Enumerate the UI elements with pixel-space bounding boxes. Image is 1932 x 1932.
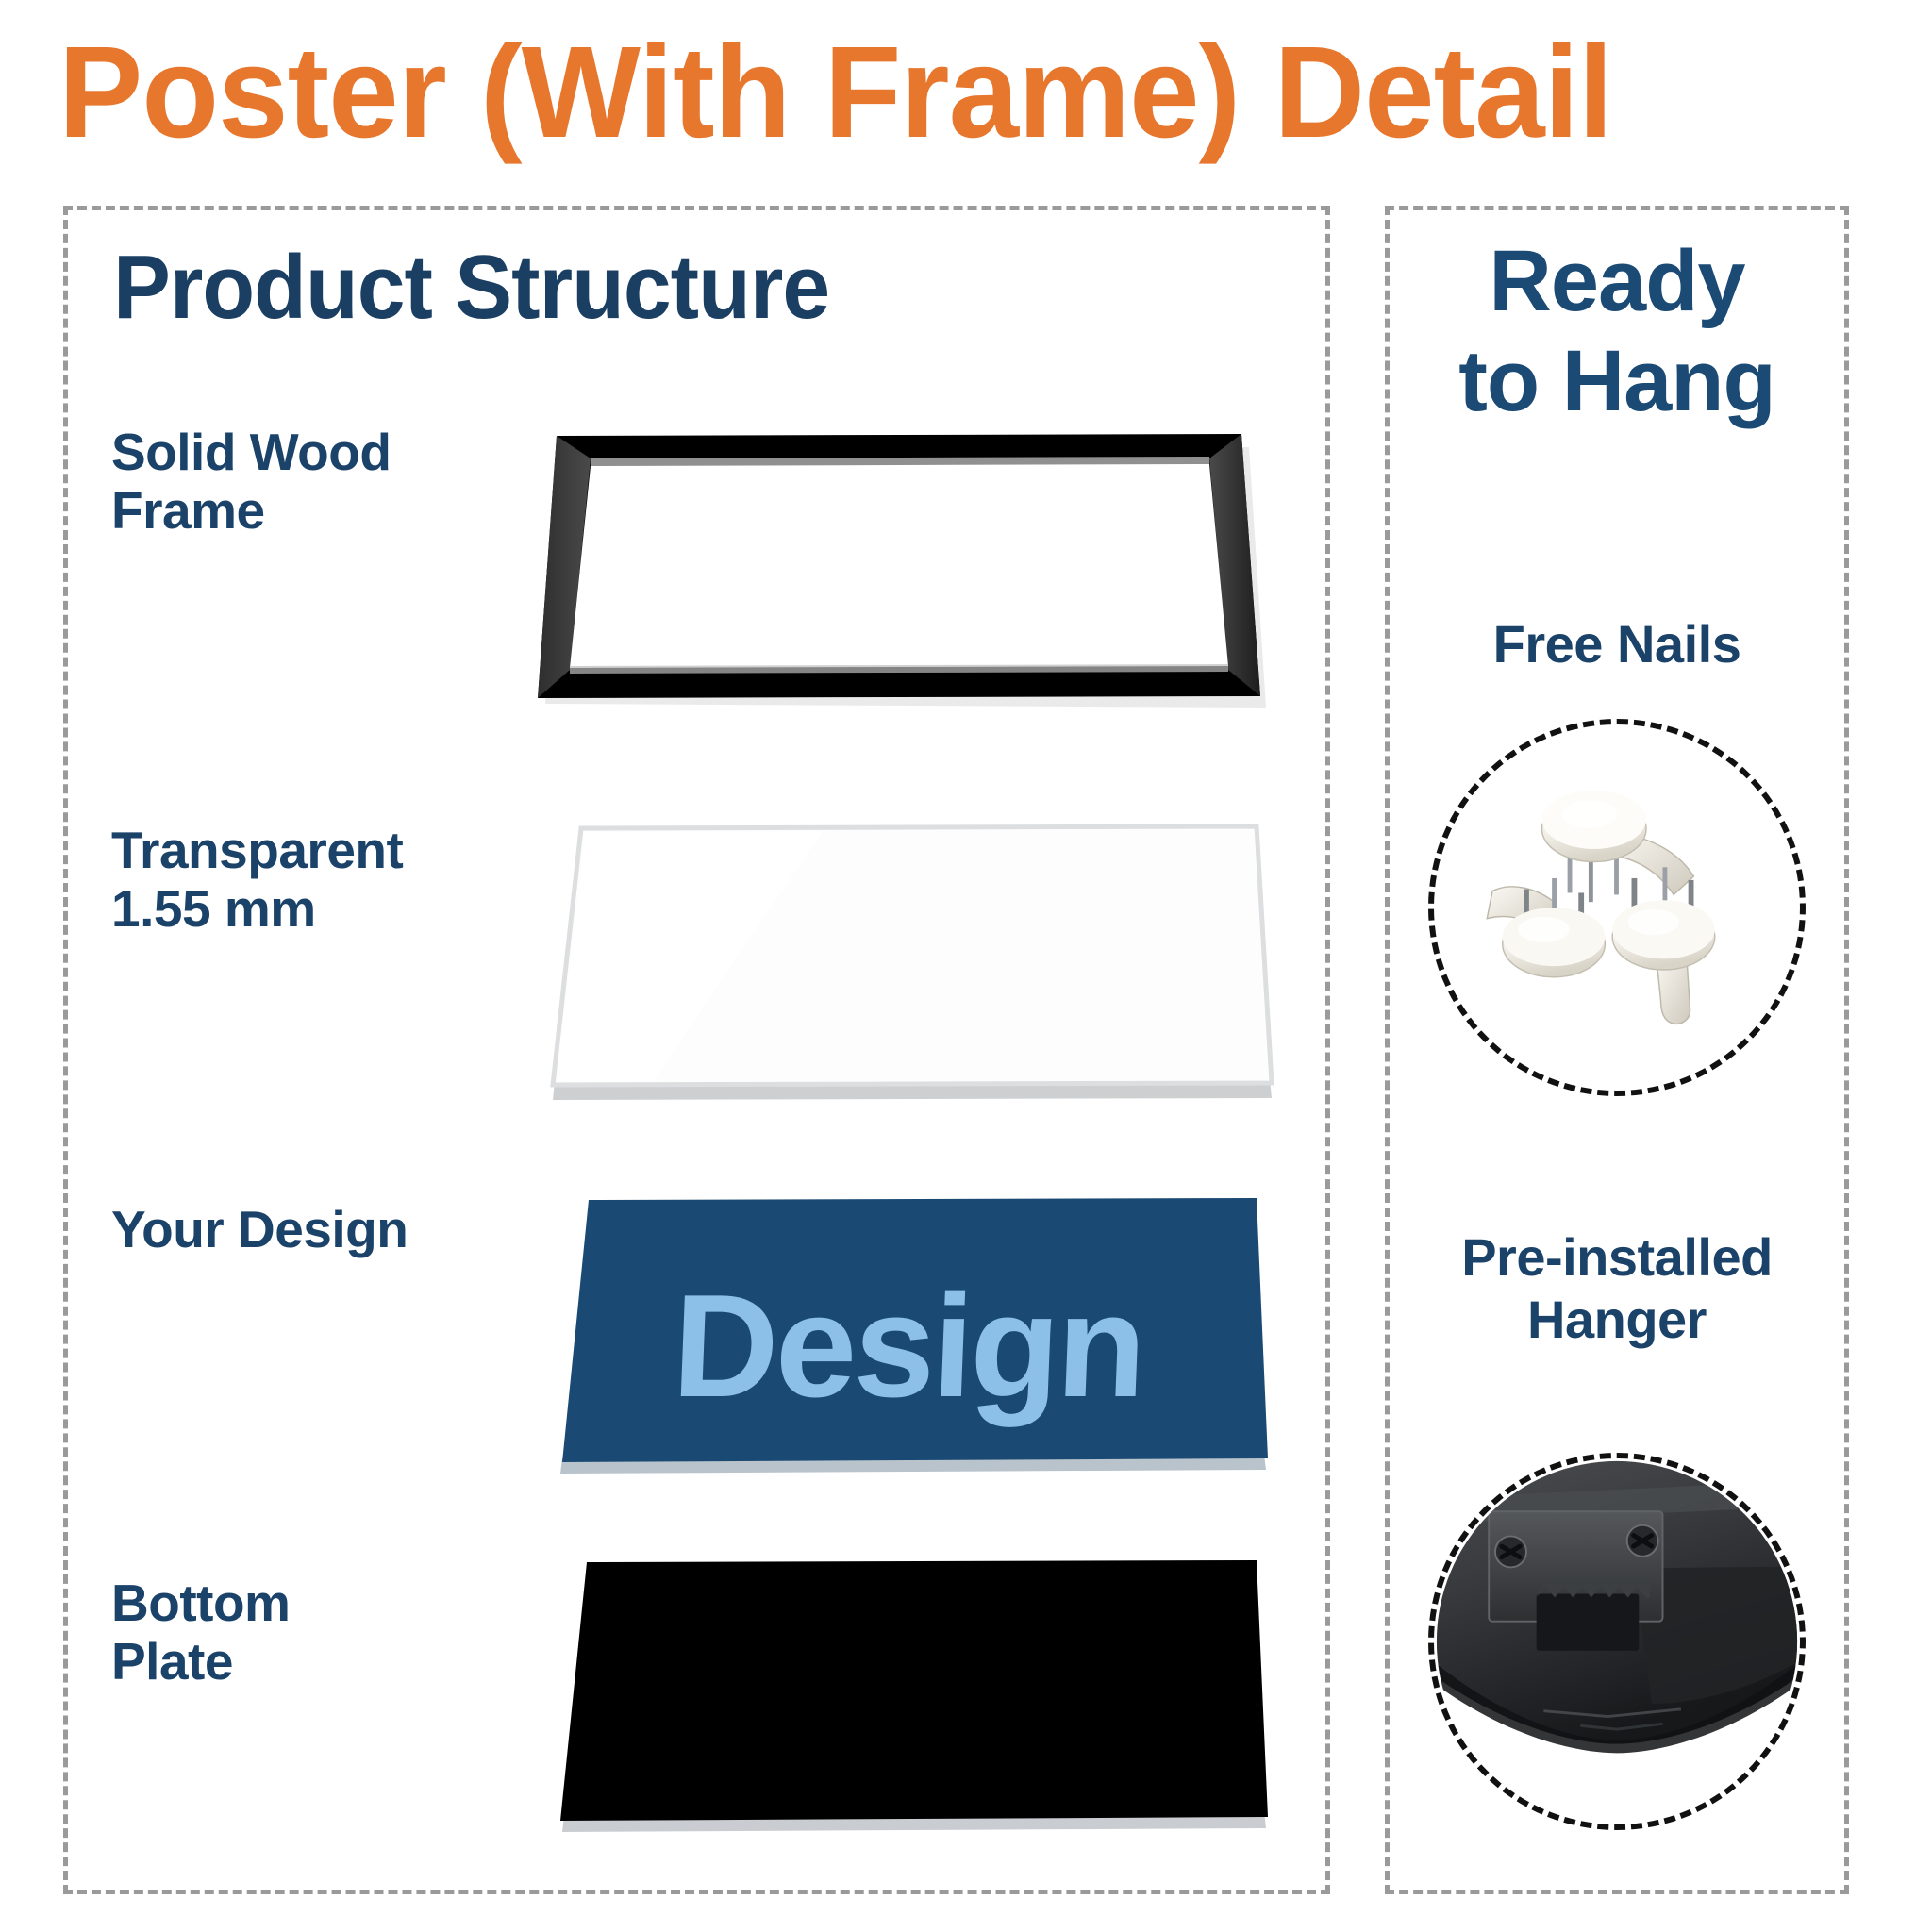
layer-label-bottom-plate: Bottom Plate xyxy=(111,1574,423,1690)
ready-to-hang-heading: Readyto Hang xyxy=(1385,231,1849,431)
layer-label-your-design: Your Design xyxy=(111,1200,423,1258)
acrylic-sheet-illustration xyxy=(540,813,1285,1124)
layer-label-transparent-sheet: Transparent 1.55 mm xyxy=(111,821,423,938)
sawtooth-hanger-photo xyxy=(1428,1453,1806,1830)
wall-nail-hooks-photo xyxy=(1428,719,1806,1096)
ready-heading-line1: Ready xyxy=(1489,233,1744,329)
layer-label-solid-wood-frame: Solid Wood Frame xyxy=(111,423,423,540)
bottom-plate-illustration xyxy=(547,1555,1283,1857)
feature-label-preinstalled-hanger: Pre-installedHanger xyxy=(1385,1226,1849,1351)
hanger-label-line1: Pre-installed xyxy=(1461,1227,1773,1287)
design-poster-illustration: Design xyxy=(545,1187,1272,1498)
ready-heading-line2: to Hang xyxy=(1458,333,1774,429)
feature-label-free-nails: Free Nails xyxy=(1385,613,1849,675)
wood-frame-illustration xyxy=(500,413,1292,743)
page-title: Poster (With Frame) Detail xyxy=(58,17,1824,168)
hanger-label-line2: Hanger xyxy=(1527,1290,1707,1349)
product-structure-heading: Product Structure xyxy=(113,236,829,340)
